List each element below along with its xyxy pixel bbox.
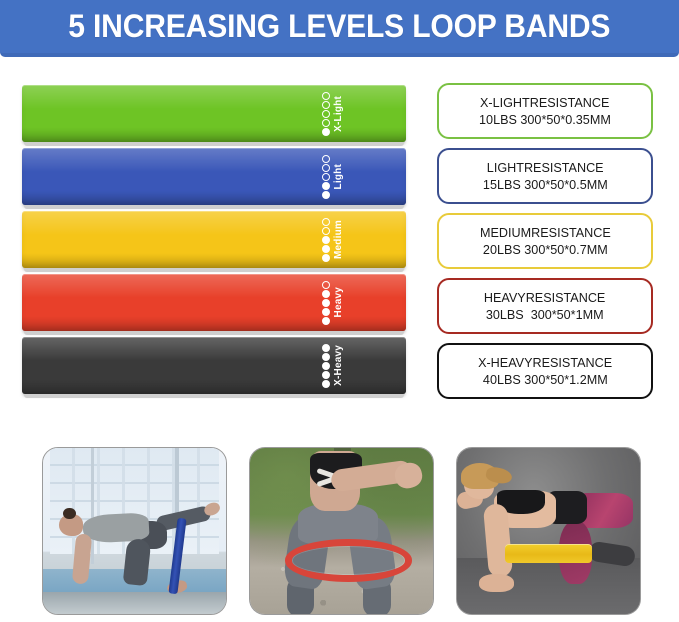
band-row: Heavy <box>22 274 406 331</box>
band-label: X-Heavy <box>334 345 344 386</box>
bands-column: X-Light Light Me <box>22 85 406 400</box>
floor <box>43 592 226 614</box>
spec-dimensions: 10LBS 300*50*0.35MM <box>479 112 611 128</box>
spec-dimensions: 30LBS 300*50*1MM <box>486 307 604 323</box>
level-dot <box>322 101 330 109</box>
level-dot <box>322 182 330 190</box>
band-level-dots <box>322 344 330 388</box>
spec-resistance-name: LIGHTRESISTANCE <box>487 160 604 176</box>
band-meta: Light <box>322 148 344 205</box>
level-dot <box>322 290 330 298</box>
level-dot <box>322 344 330 352</box>
level-dot <box>322 371 330 379</box>
level-dot <box>322 380 330 388</box>
spec-dimensions: 15LBS 300*50*0.5MM <box>483 177 608 193</box>
band-swatch-medium <box>22 211 406 268</box>
band-level-dots <box>322 92 330 136</box>
band-row: Medium <box>22 211 406 268</box>
spec-box-x-heavy: X-HEAVYRESISTANCE 40LBS 300*50*1.2MM <box>437 343 653 399</box>
spec-box-light: LIGHTRESISTANCE 15LBS 300*50*0.5MM <box>437 148 653 204</box>
band-label: Light <box>334 164 344 189</box>
level-dot <box>322 128 330 136</box>
band-shadow <box>24 142 404 146</box>
band-swatch-x-heavy <box>22 337 406 394</box>
spec-resistance-name: MEDIUMRESISTANCE <box>480 225 611 241</box>
level-dot <box>322 308 330 316</box>
level-dot <box>322 227 330 235</box>
band-swatch-x-light <box>22 85 406 142</box>
hand <box>479 574 514 592</box>
band-swatch-heavy <box>22 274 406 331</box>
level-dot <box>322 173 330 181</box>
band-row: X-Light <box>22 85 406 142</box>
page-title: 5 INCREASING LEVELS LOOP BANDS <box>68 8 610 45</box>
level-dot <box>322 299 330 307</box>
spec-box-x-light: X-LIGHTRESISTANCE 10LBS 300*50*0.35MM <box>437 83 653 139</box>
level-dot <box>322 317 330 325</box>
band-label: Heavy <box>334 287 344 317</box>
band-shadow <box>24 268 404 272</box>
band-shadow <box>24 394 404 398</box>
level-dot <box>322 281 330 289</box>
band-level-dots <box>322 155 330 199</box>
band-level-dots <box>322 218 330 262</box>
photo-studio-kickback-yellow-band <box>456 447 641 615</box>
spec-box-medium: MEDIUMRESISTANCE 20LBS 300*50*0.7MM <box>437 213 653 269</box>
photo-outdoor-squat-red-band <box>249 447 434 615</box>
band-row: Light <box>22 148 406 205</box>
level-dot <box>322 191 330 199</box>
level-dot <box>322 218 330 226</box>
level-dot <box>322 92 330 100</box>
spec-resistance-name: X-HEAVYRESISTANCE <box>478 355 612 371</box>
band-meta: Heavy <box>322 274 344 331</box>
level-dot <box>322 353 330 361</box>
band-meta: Medium <box>322 211 344 268</box>
band-shadow <box>24 205 404 209</box>
band-row: X-Heavy <box>22 337 406 394</box>
band-level-dots <box>322 281 330 325</box>
band-meta: X-Heavy <box>322 337 344 394</box>
level-dot <box>322 110 330 118</box>
band-meta: X-Light <box>322 85 344 142</box>
resistance-band-in-use <box>285 539 412 581</box>
header-banner: 5 INCREASING LEVELS LOOP BANDS <box>0 0 679 57</box>
band-swatch-light <box>22 148 406 205</box>
spec-resistance-name: HEAVYRESISTANCE <box>484 290 605 306</box>
level-dot <box>322 254 330 262</box>
level-dot <box>322 155 330 163</box>
band-label: Medium <box>334 220 344 259</box>
photos-row <box>42 447 642 615</box>
level-dot <box>322 236 330 244</box>
spec-resistance-name: X-LIGHTRESISTANCE <box>480 95 609 111</box>
band-label: X-Light <box>334 96 344 132</box>
spec-column: X-LIGHTRESISTANCE 10LBS 300*50*0.35MM LI… <box>437 83 653 408</box>
level-dot <box>322 164 330 172</box>
spec-box-heavy: HEAVYRESISTANCE 30LBS 300*50*1MM <box>437 278 653 334</box>
level-dot <box>322 245 330 253</box>
photo-indoor-donkey-kick-blue-band <box>42 447 227 615</box>
level-dot <box>322 362 330 370</box>
spec-dimensions: 20LBS 300*50*0.7MM <box>483 242 608 258</box>
band-shadow <box>24 331 404 335</box>
resistance-band-in-use <box>505 544 593 562</box>
level-dot <box>322 119 330 127</box>
spec-dimensions: 40LBS 300*50*1.2MM <box>483 372 608 388</box>
